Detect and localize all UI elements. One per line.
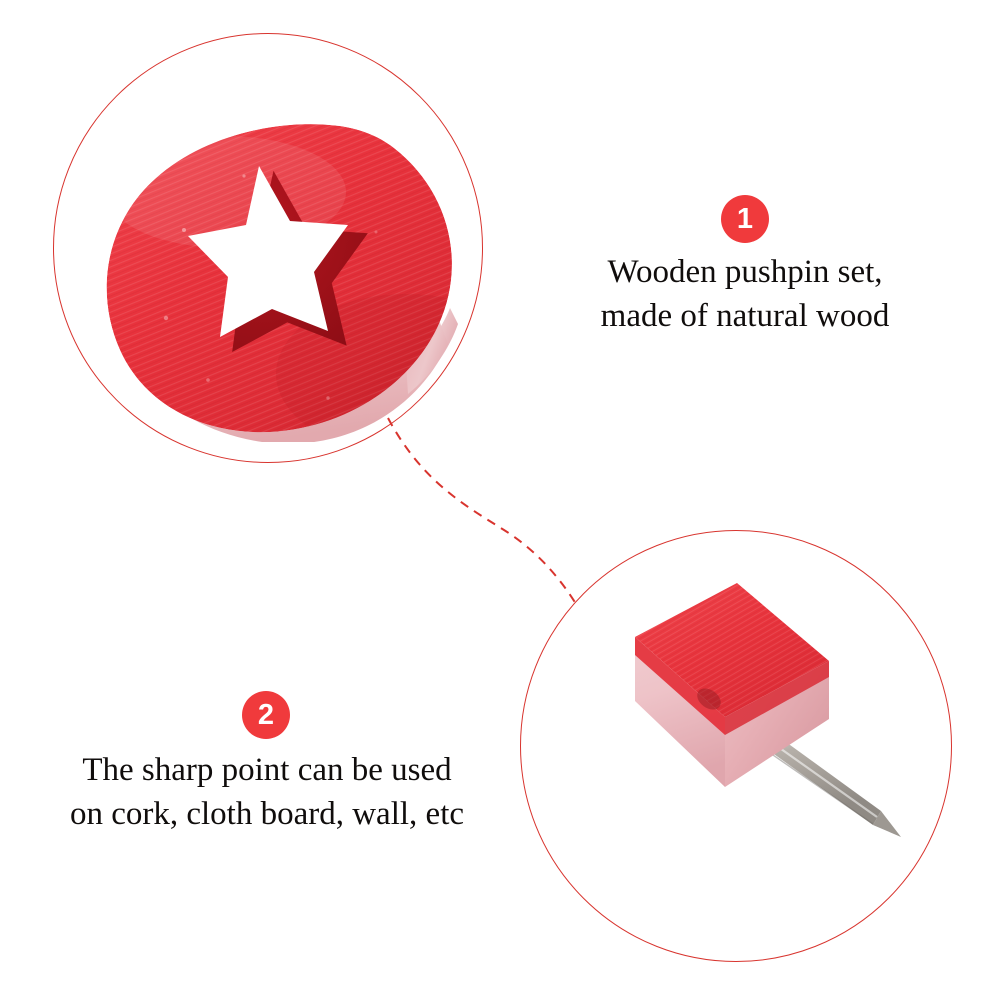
- pushpin-point-photo: [521, 531, 951, 961]
- caption-2-line-1: The sharp point can be used: [12, 748, 522, 792]
- cube-pushpin-illustration: [529, 549, 949, 909]
- pushpin-head-photo: [54, 34, 482, 462]
- callout-photo-circle-2: [520, 530, 952, 962]
- callout-badge-1: 1: [721, 195, 769, 243]
- caption-2-line-2: on cork, cloth board, wall, etc: [12, 792, 522, 836]
- callout-photo-circle-1: [53, 33, 483, 463]
- callout-badge-2: 2: [242, 691, 290, 739]
- callout-caption-2: The sharp point can be used on cork, clo…: [12, 748, 522, 836]
- callout-caption-1: Wooden pushpin set, made of natural wood: [505, 250, 985, 338]
- caption-1-line-1: Wooden pushpin set,: [505, 250, 985, 294]
- infographic-page: 1 Wooden pushpin set, made of natural wo…: [0, 0, 1002, 1002]
- caption-1-line-2: made of natural wood: [505, 294, 985, 338]
- pushpin-head-illustration: [76, 112, 480, 442]
